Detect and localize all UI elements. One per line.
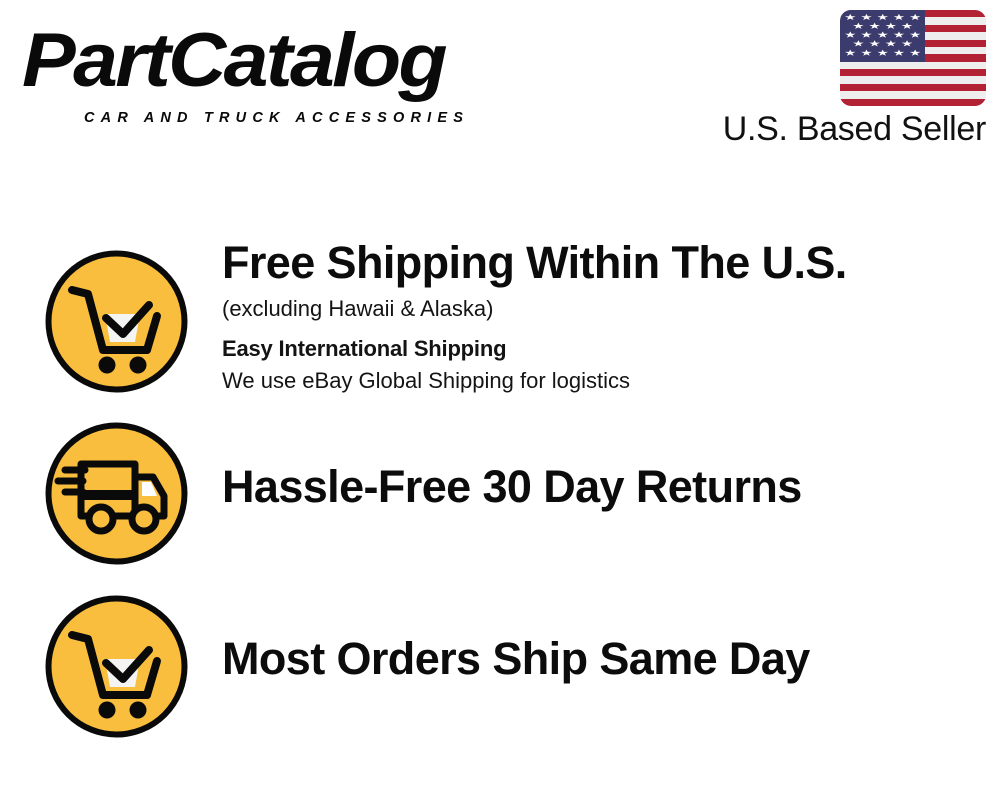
cart-check-icon <box>43 593 190 740</box>
cart-check-icon <box>43 248 190 395</box>
feature-row: Most Orders Ship Same Day <box>0 592 1000 744</box>
delivery-truck-icon <box>43 420 190 567</box>
feature-subtitle-3: We use eBay Global Shipping for logistic… <box>222 366 982 396</box>
feature-row: Hassle-Free 30 Day Returns <box>0 420 1000 572</box>
feature-list: Free Shipping Within The U.S. (excluding… <box>0 0 1000 800</box>
feature-text-block: Free Shipping Within The U.S. (excluding… <box>222 236 982 396</box>
feature-title: Free Shipping Within The U.S. <box>222 238 982 288</box>
feature-text-block: Most Orders Ship Same Day <box>222 592 982 684</box>
feature-row: Free Shipping Within The U.S. (excluding… <box>0 236 1000 411</box>
feature-subtitle-2: Easy International Shipping <box>222 334 982 364</box>
feature-text-block: Hassle-Free 30 Day Returns <box>222 420 982 512</box>
feature-title: Hassle-Free 30 Day Returns <box>222 462 982 512</box>
feature-subtitle-1: (excluding Hawaii & Alaska) <box>222 294 982 324</box>
feature-title: Most Orders Ship Same Day <box>222 634 982 684</box>
